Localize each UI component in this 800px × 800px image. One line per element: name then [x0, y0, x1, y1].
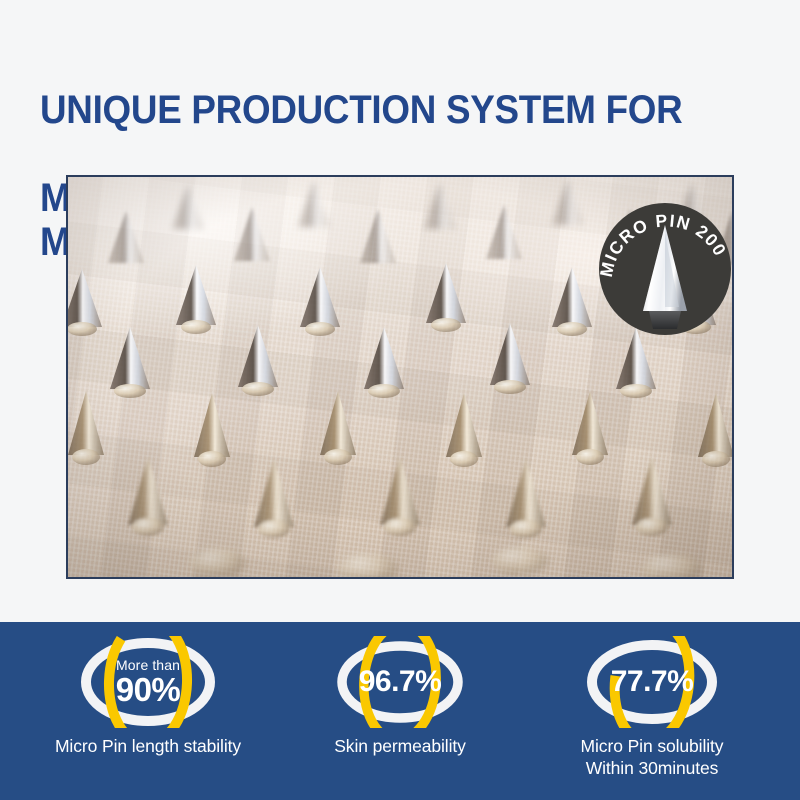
micro-pin-200-badge: MICRO PIN 200 — [595, 199, 734, 339]
stat-skin-permeability: 96.7% Skin permeability — [274, 636, 526, 757]
badge-needle-base — [649, 311, 681, 329]
badge-svg: MICRO PIN 200 — [595, 199, 734, 339]
gauge-fill-1 — [107, 636, 189, 728]
stats-panel: More than 90% Micro Pin length stability… — [0, 622, 800, 800]
page-title-line-1: UNIQUE PRODUCTION SYSTEM FOR — [40, 88, 721, 132]
stats-row: More than 90% Micro Pin length stability… — [0, 622, 800, 800]
stat-micro-pin-solubility: 77.7% Micro Pin solubility Within 30minu… — [526, 636, 778, 779]
stat-label-2: Skin permeability — [334, 735, 466, 757]
micrograph-image: MICRO PIN 200 — [66, 175, 734, 579]
gauge-skin-permeability: 96.7% — [326, 636, 474, 728]
gauge-micro-pin-solubility: 77.7% — [578, 636, 726, 728]
infographic-page: UNIQUE PRODUCTION SYSTEM FOR MICRONEEDLE… — [0, 0, 800, 800]
gauge-svg-2 — [326, 636, 474, 728]
stat-label-1: Micro Pin length stability — [55, 735, 241, 757]
gauge-svg-1 — [74, 636, 222, 728]
stat-micro-pin-length-stability: More than 90% Micro Pin length stability — [22, 636, 274, 757]
gauge-micro-pin-length-stability: More than 90% — [74, 636, 222, 728]
stat-label-3: Micro Pin solubility Within 30minutes — [581, 735, 724, 779]
gauge-svg-3 — [578, 636, 726, 728]
